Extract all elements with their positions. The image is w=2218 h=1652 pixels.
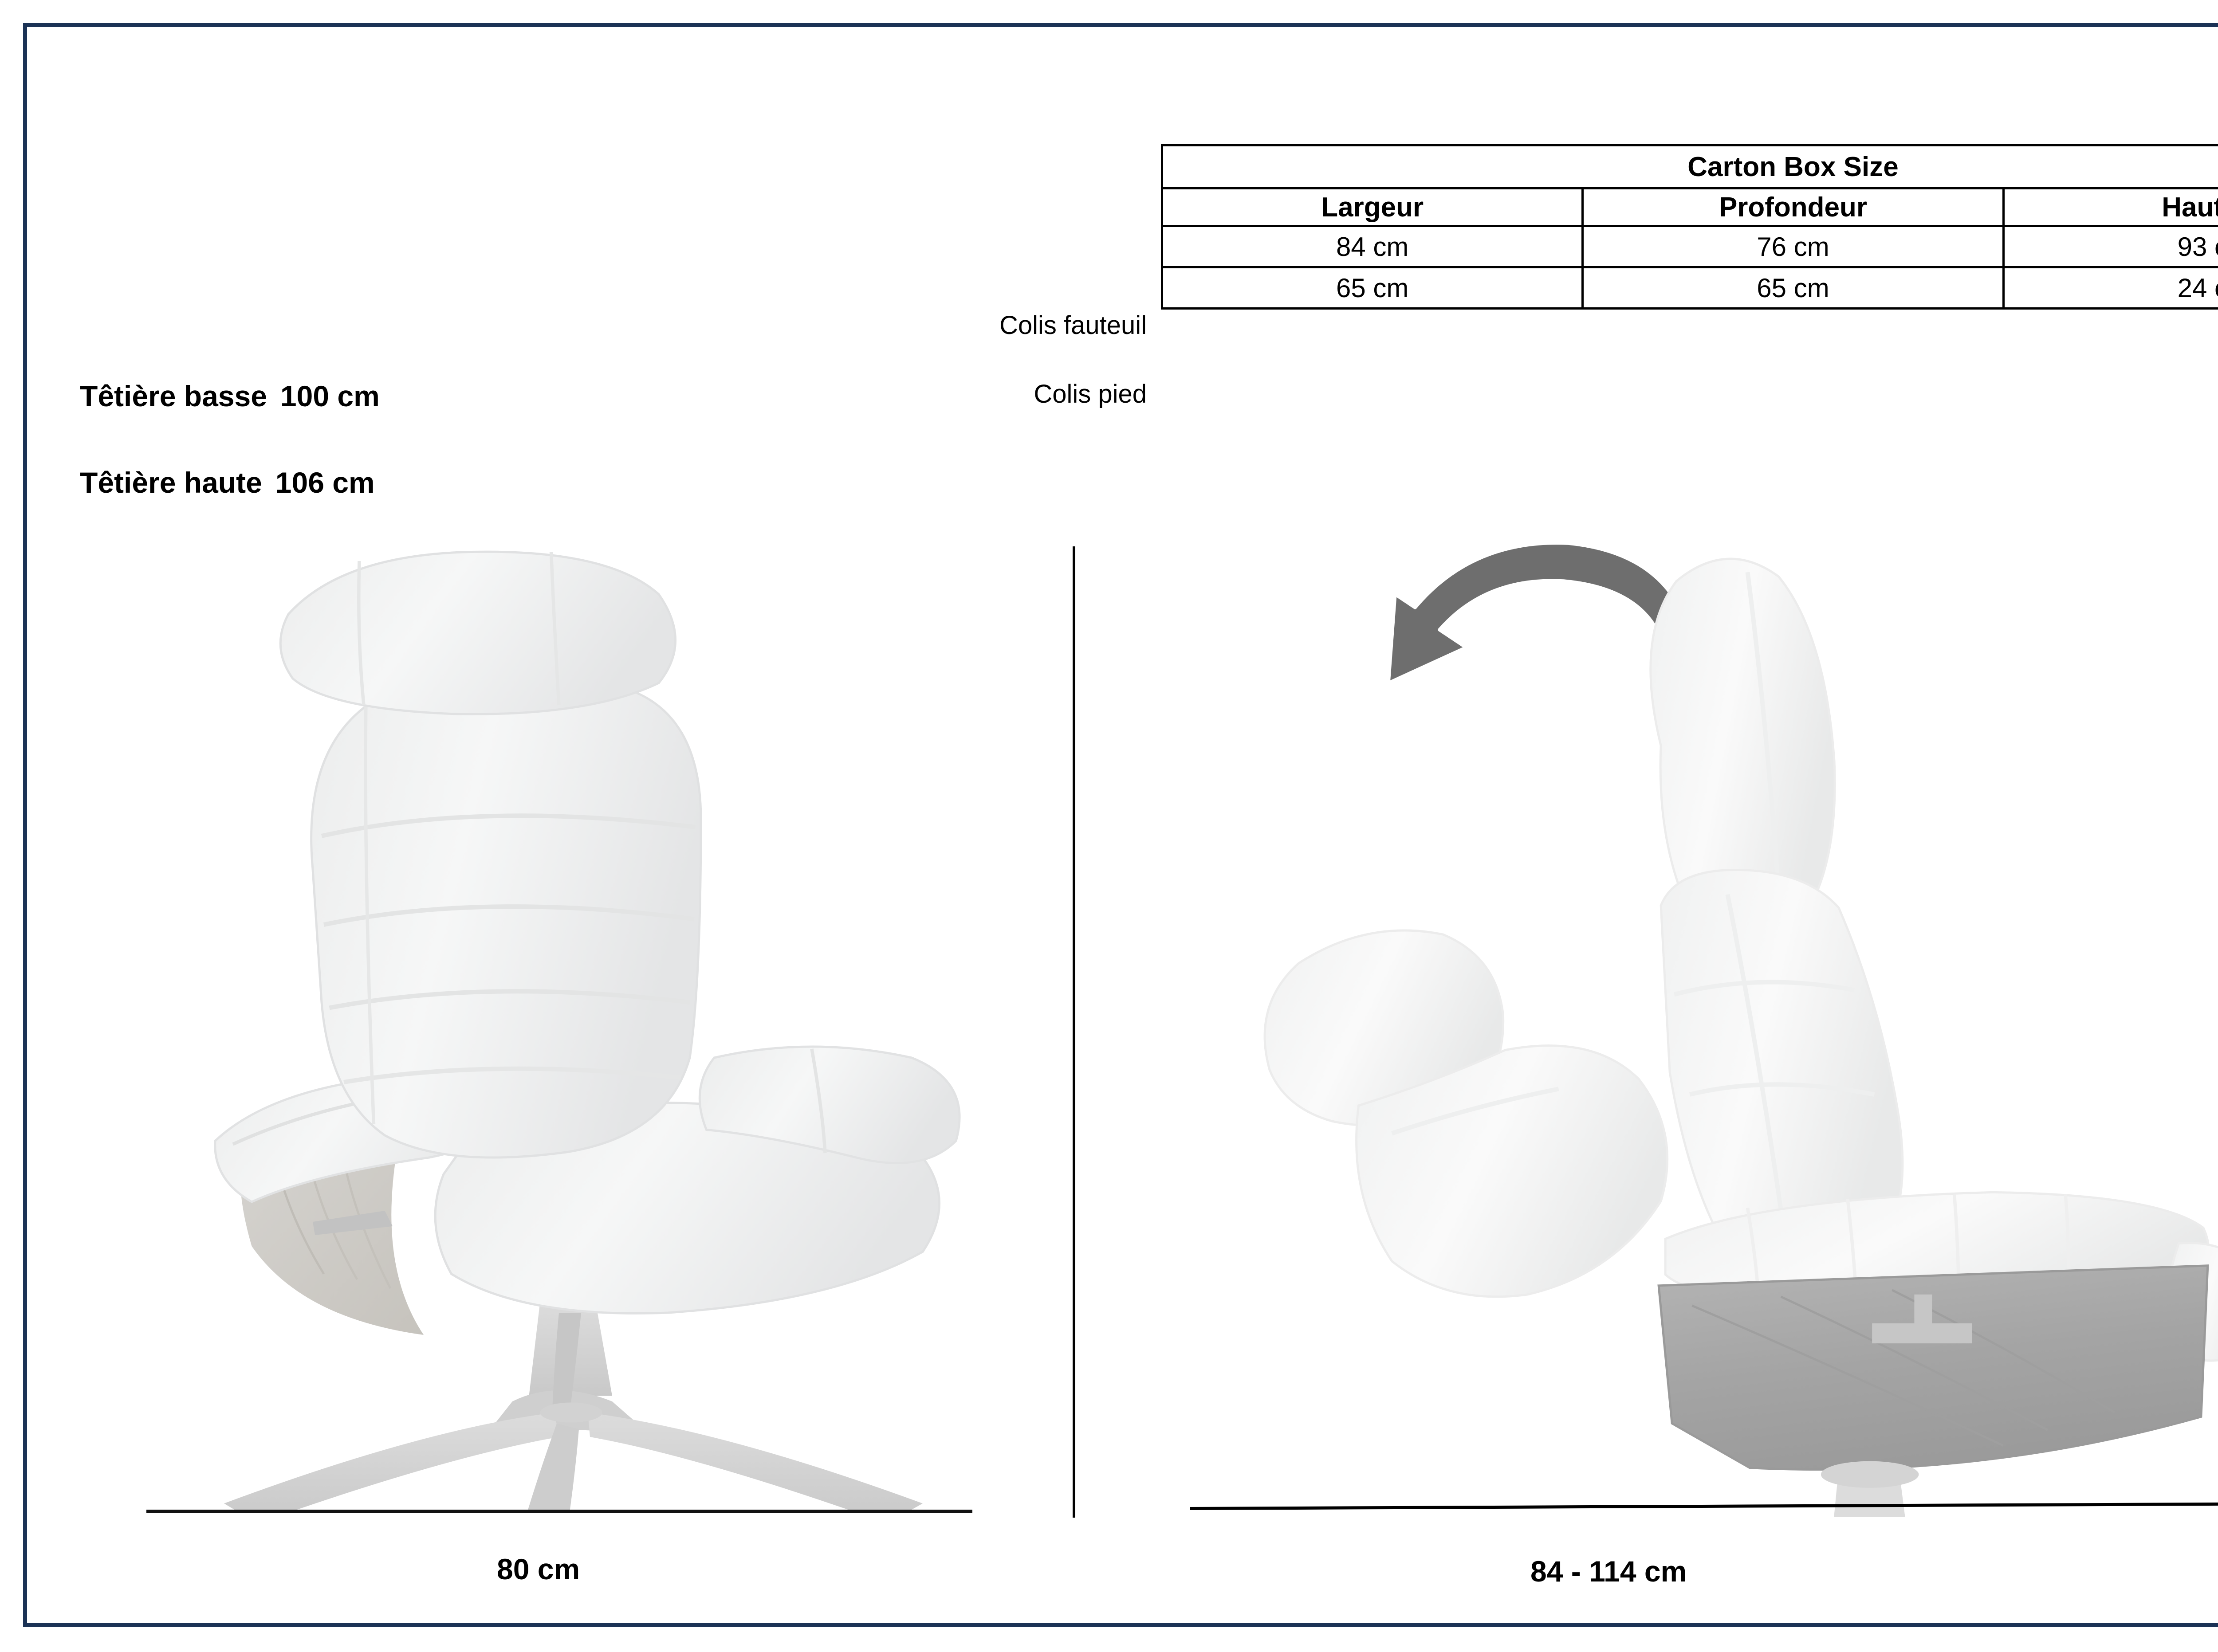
row-label-colis-pied: Colis pied bbox=[710, 379, 1147, 409]
headrest-low-label: Têtière basse bbox=[80, 380, 267, 412]
backrest-upright-group bbox=[1651, 559, 1903, 1275]
spec-sheet-page: VEGA FAUTEUIL Carton Box Size Poids Larg… bbox=[0, 0, 2218, 1652]
headrest-low-spec: Têtière basse100 cm bbox=[80, 379, 380, 413]
headrest-high-label: Têtière haute bbox=[80, 466, 262, 499]
armchair-reclined-illustration bbox=[1224, 528, 2218, 1517]
wood-back-panel bbox=[1659, 1266, 2208, 1470]
view-divider-line bbox=[1073, 546, 1075, 1518]
headrest-low-value: 100 cm bbox=[280, 380, 380, 412]
profondeur-header: Profondeur bbox=[1583, 188, 2003, 226]
hauteur-header: Hauteur bbox=[2003, 188, 2218, 226]
armchair-upright-illustration bbox=[146, 537, 989, 1512]
headrest-high-value: 106 cm bbox=[275, 466, 375, 499]
colis-fauteuil-hauteur: 93 cm bbox=[2003, 226, 2218, 267]
colis-fauteuil-largeur: 84 cm bbox=[1162, 226, 1583, 267]
headrest-high-spec: Têtière haute106 cm bbox=[80, 466, 375, 499]
carton-box-size-table: Carton Box Size Poids Largeur Profondeur… bbox=[1161, 144, 2218, 310]
table-row: 65 cm 65 cm 24 cm 15 kg bbox=[1162, 267, 2218, 309]
colis-fauteuil-profondeur: 76 cm bbox=[1583, 226, 2003, 267]
dimension-label-width: 80 cm bbox=[497, 1552, 580, 1586]
dimension-line-width bbox=[146, 1510, 972, 1513]
dimension-label-depth: 84 - 114 cm bbox=[1530, 1554, 1687, 1588]
backrest-reclined-ghost bbox=[1265, 930, 1667, 1297]
swivel-base bbox=[224, 1302, 923, 1512]
row-label-colis-fauteuil: Colis fauteuil bbox=[710, 310, 1147, 340]
swivel-base-reclined bbox=[1559, 1461, 2183, 1517]
table-header-group-row: Carton Box Size Poids bbox=[1162, 145, 2218, 188]
backrest bbox=[311, 682, 701, 1158]
table-header-columns-row: Largeur Profondeur Hauteur bbox=[1162, 188, 2218, 226]
colis-pied-largeur: 65 cm bbox=[1162, 267, 1583, 309]
largeur-header: Largeur bbox=[1162, 188, 1583, 226]
carton-box-size-header: Carton Box Size bbox=[1162, 145, 2218, 188]
colis-pied-hauteur: 24 cm bbox=[2003, 267, 2218, 309]
headrest-pillow bbox=[280, 552, 675, 714]
colis-pied-profondeur: 65 cm bbox=[1583, 267, 2003, 309]
table-row: 84 cm 76 cm 93 cm 26 kg bbox=[1162, 226, 2218, 267]
